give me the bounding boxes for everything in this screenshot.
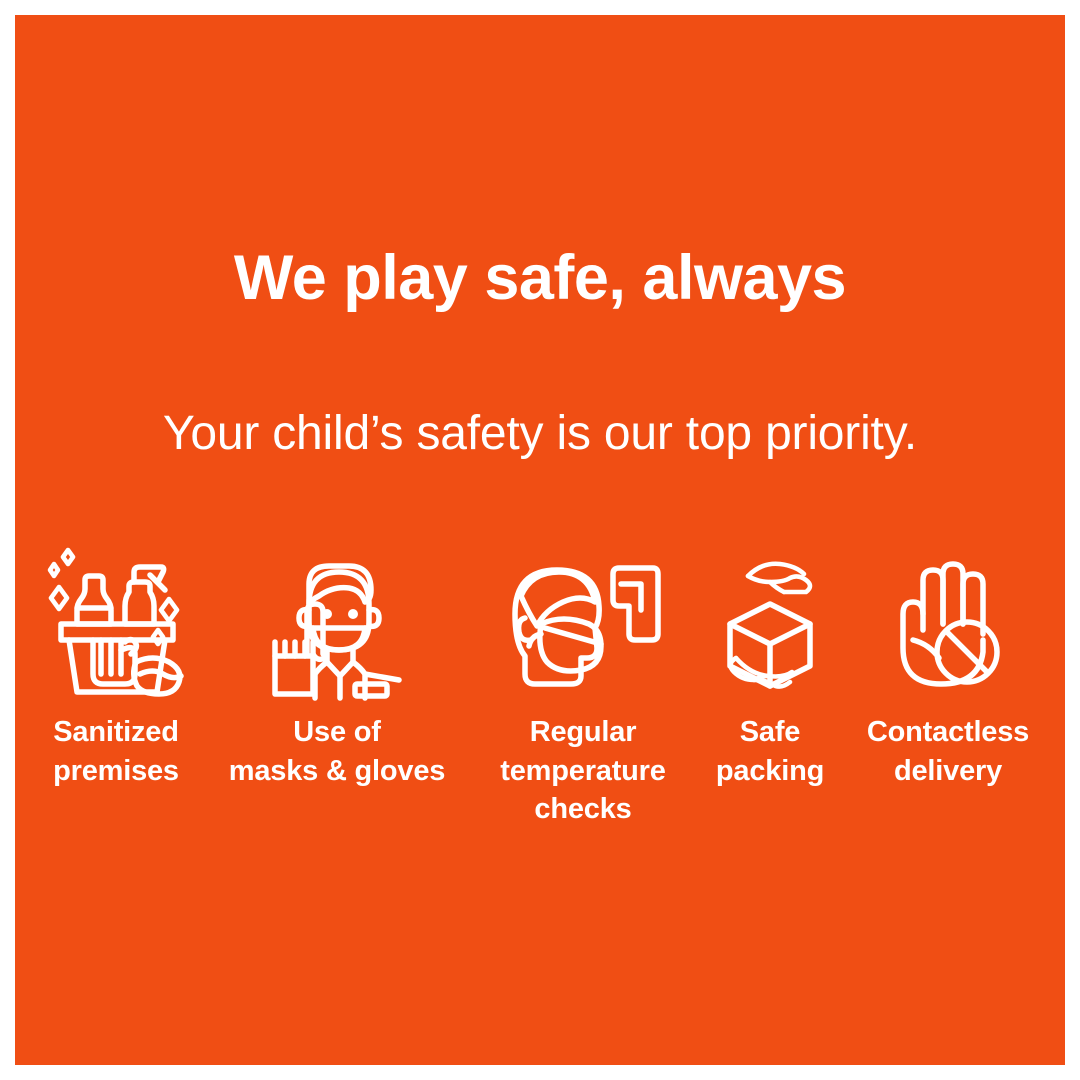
feature-label: Contactless delivery xyxy=(851,713,1045,790)
feature-masks-gloves: Use of masks & gloves xyxy=(222,535,452,790)
no-contact-hand-icon xyxy=(889,552,1007,700)
feature-label: Safe packing xyxy=(703,713,837,790)
hands-holding-box-icon xyxy=(710,552,830,700)
feature-label: Use of masks & gloves xyxy=(222,713,452,790)
icon-container xyxy=(703,535,837,700)
icon-container xyxy=(222,535,452,700)
feature-sanitized-premises: Sanitized premises xyxy=(16,535,216,790)
icon-container xyxy=(16,535,216,700)
safety-feature-row: Sanitized premises xyxy=(15,535,1065,865)
feature-temperature-checks: Regular temperature checks xyxy=(463,535,703,829)
feature-safe-packing: Safe packing xyxy=(703,535,837,790)
icon-container xyxy=(463,535,703,700)
page-subtitle: Your child’s safety is our top priority. xyxy=(15,410,1065,458)
safety-poster: We play safe, always Your child’s safety… xyxy=(15,15,1065,1065)
feature-label: Regular temperature checks xyxy=(463,713,703,829)
page-title: We play safe, always xyxy=(15,247,1065,310)
masked-head-thermometer-icon xyxy=(501,552,666,700)
masked-person-gloved-hand-icon xyxy=(267,550,407,700)
feature-contactless-delivery: Contactless delivery xyxy=(851,535,1045,790)
feature-label: Sanitized premises xyxy=(16,713,216,790)
cleaning-supplies-icon xyxy=(41,542,191,700)
icon-container xyxy=(851,535,1045,700)
